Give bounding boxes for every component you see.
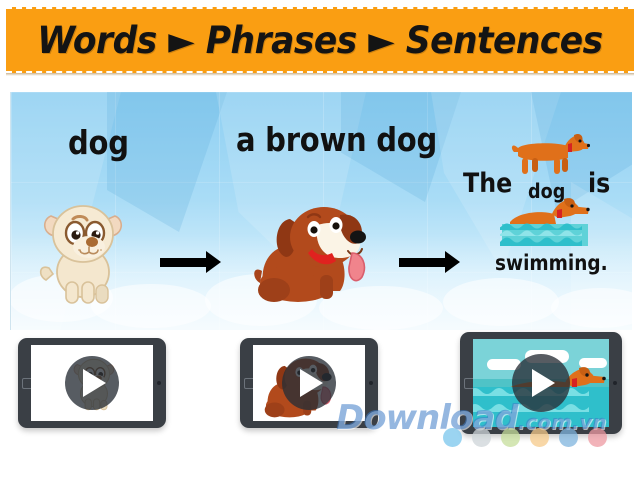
tablet-word-screen[interactable] — [31, 345, 153, 421]
slide-root: Words ► Phrases ► Sentences dog — [0, 0, 640, 480]
camera-icon — [157, 381, 161, 385]
play-triangle-icon — [532, 369, 555, 397]
dot-pink — [588, 428, 607, 447]
tablet-word[interactable] — [18, 338, 166, 428]
camera-icon — [613, 381, 617, 385]
word-label-dog: dog — [68, 123, 129, 162]
play-triangle-icon — [300, 369, 323, 397]
dot-orange — [530, 428, 549, 447]
dot-green — [501, 428, 520, 447]
brown-dog-illustration — [252, 195, 377, 307]
puppy-illustration — [35, 190, 131, 305]
swimming-dachshund-illustration — [500, 196, 590, 252]
play-triangle-icon — [83, 369, 106, 397]
dot-lightblue — [443, 428, 462, 447]
watermark-dot-row — [443, 428, 607, 447]
arrow-word-to-phrase — [160, 251, 222, 273]
camera-icon — [369, 381, 373, 385]
sentence-word-is: is — [588, 168, 610, 199]
dachshund-illustration — [510, 130, 590, 178]
page-title: Words ► Phrases ► Sentences — [37, 19, 602, 62]
play-button-phrase[interactable] — [282, 356, 336, 410]
sentence-word-swimming: swimming. — [495, 251, 608, 275]
dot-blue — [559, 428, 578, 447]
header-shadow — [6, 73, 634, 76]
arrow-phrase-to-sentence — [399, 251, 461, 273]
header-banner: Words ► Phrases ► Sentences — [6, 7, 634, 73]
dot-gray — [472, 428, 491, 447]
sentence-word-the: The — [463, 168, 512, 199]
play-button-word[interactable] — [65, 356, 119, 410]
phrase-label: a brown dog — [236, 120, 437, 159]
